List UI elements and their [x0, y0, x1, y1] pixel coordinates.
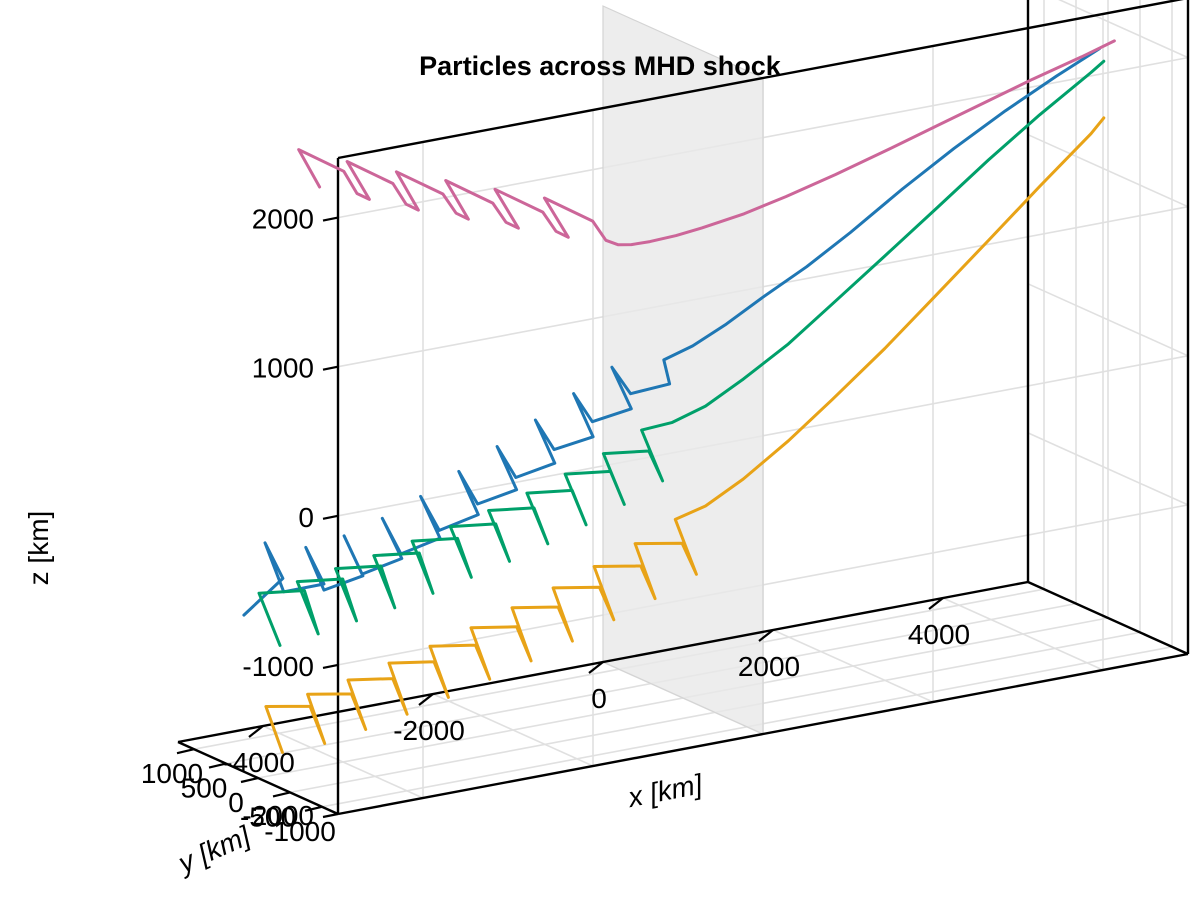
- page-title: Particles across MHD shock: [419, 51, 782, 81]
- tick-label-z-3: -1000: [242, 651, 314, 682]
- tick-label-z-1: 1000: [252, 353, 314, 384]
- tick-label-y-1: 500: [181, 773, 228, 804]
- tick-label-x-3: 2000: [738, 651, 800, 682]
- tick-label-z-2: 0: [298, 502, 314, 533]
- plot-3d-svg: -4000-200002000400010005000-500-10002000…: [0, 0, 1200, 900]
- shock-plane-surface: [603, 6, 763, 734]
- tick-label-x-2: 0: [591, 683, 607, 714]
- tick-label-x-0: -4000: [223, 747, 295, 778]
- tick-label-x-1: -2000: [393, 715, 465, 746]
- axis-label-z: z [km]: [23, 511, 54, 586]
- tick-label-x-4: 4000: [908, 619, 970, 650]
- shock-plane: [603, 6, 763, 734]
- figure-canvas: -4000-200002000400010005000-500-10002000…: [0, 0, 1200, 900]
- tick-label-z-0: 2000: [252, 204, 314, 235]
- tick-label-z-4: -2000: [242, 800, 314, 831]
